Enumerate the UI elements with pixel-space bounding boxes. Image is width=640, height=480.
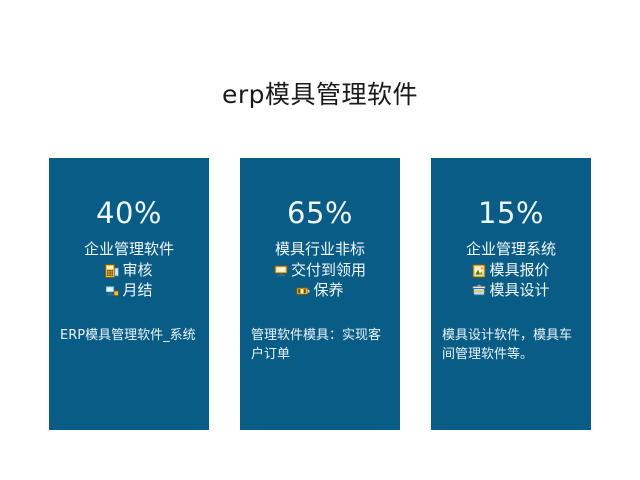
list-item-label: 模具设计 bbox=[489, 281, 549, 300]
list-item[interactable]: 模具设计 bbox=[472, 281, 549, 300]
list-item[interactable]: 月结 bbox=[105, 281, 152, 300]
list-item-label: 审核 bbox=[122, 261, 152, 280]
stat-item-list: 审核 月结 bbox=[49, 261, 209, 301]
card-row: 40% 企业管理软件 bbox=[49, 158, 591, 430]
list-item[interactable]: 模具报价 bbox=[472, 261, 549, 280]
list-item-label: 模具报价 bbox=[489, 261, 549, 280]
stat-item-list: 模具报价 模具设计 bbox=[431, 261, 591, 301]
stat-card[interactable]: 65% 模具行业非标 交付到领用 bbox=[240, 158, 400, 430]
desktop-computer-icon bbox=[105, 284, 119, 298]
list-item-label: 交付到领用 bbox=[291, 261, 366, 280]
list-item[interactable]: 交付到领用 bbox=[274, 261, 366, 280]
page-title: erp模具管理软件 bbox=[0, 78, 640, 112]
stat-description: 模具设计软件，模具车间管理软件等。 bbox=[442, 326, 582, 364]
stat-description: ERP模具管理软件_系统 bbox=[60, 326, 200, 345]
calculator-icon bbox=[105, 264, 119, 278]
stat-item-list: 交付到领用 保养 bbox=[240, 261, 400, 301]
list-item-label: 月结 bbox=[122, 281, 152, 300]
stat-subtitle: 企业管理系统 bbox=[431, 238, 591, 260]
toolbox-icon bbox=[472, 284, 486, 298]
battery-icon bbox=[296, 284, 310, 298]
stat-percent: 65% bbox=[240, 196, 400, 230]
list-item[interactable]: 保养 bbox=[296, 281, 343, 300]
list-item-label: 保养 bbox=[313, 281, 343, 300]
stat-card[interactable]: 40% 企业管理软件 bbox=[49, 158, 209, 430]
stat-subtitle: 企业管理软件 bbox=[49, 238, 209, 260]
stat-card[interactable]: 15% 企业管理系统 模具报价 bbox=[431, 158, 591, 430]
slide-canvas: erp模具管理软件 40% 企业管理软件 bbox=[0, 0, 640, 480]
stat-subtitle: 模具行业非标 bbox=[240, 238, 400, 260]
stat-description: 管理软件模具：实现客户订单 bbox=[251, 326, 391, 364]
list-item[interactable]: 审核 bbox=[105, 261, 152, 280]
stat-percent: 15% bbox=[431, 196, 591, 230]
framed-picture-icon bbox=[472, 264, 486, 278]
stat-percent: 40% bbox=[49, 196, 209, 230]
monitor-icon bbox=[274, 264, 288, 278]
